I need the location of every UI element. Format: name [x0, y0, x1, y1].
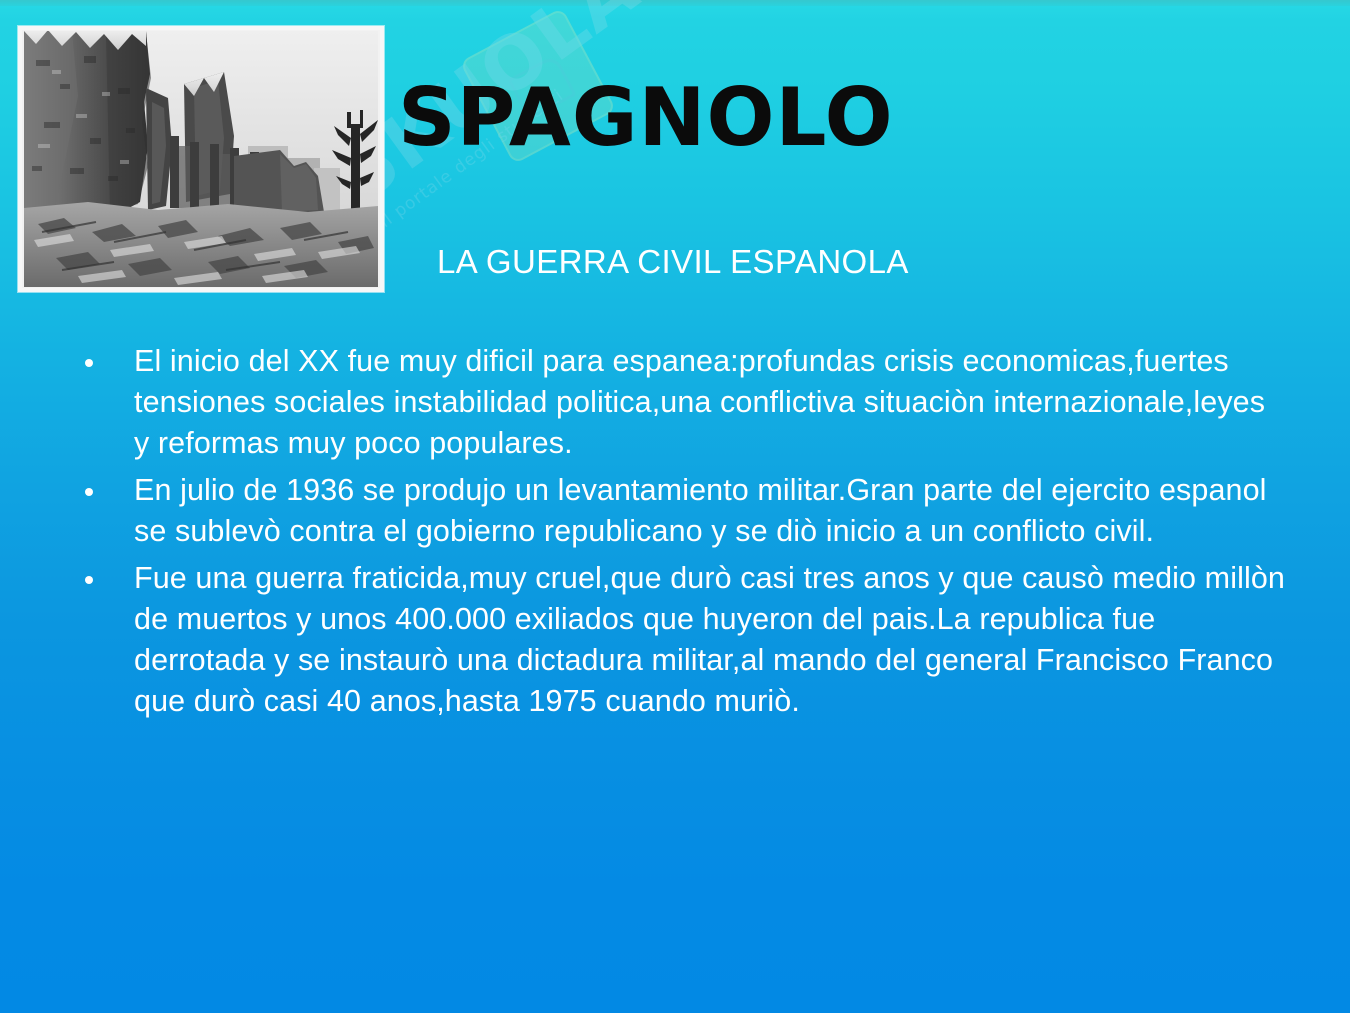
presentation-slide: SKUOLA il portale degli studenti [0, 0, 1350, 1013]
bullet-item: Fue una guerra fraticida,muy cruel,que d… [72, 558, 1287, 722]
slide-subtitle: LA GUERRA CIVIL ESPANOLA [437, 242, 909, 282]
slide-body-bullet-list: El inicio del XX fue muy dificil para es… [72, 341, 1287, 728]
bullet-item: El inicio del XX fue muy dificil para es… [72, 341, 1287, 464]
ruins-illustration-icon [18, 26, 384, 292]
bombed-city-ruins-photo [18, 26, 384, 292]
slide-title: SPAGNOLO [398, 76, 1328, 160]
slide-top-edge-strip [0, 0, 1350, 6]
bullet-item: En julio de 1936 se produjo un levantami… [72, 470, 1287, 552]
